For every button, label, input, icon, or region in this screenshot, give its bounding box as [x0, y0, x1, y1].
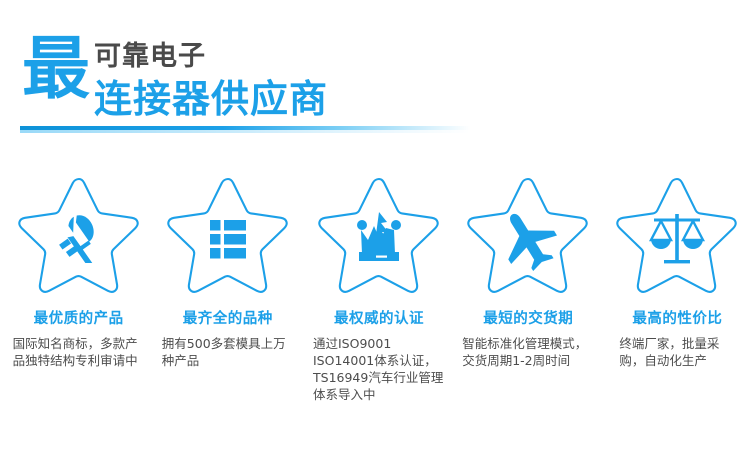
feature-item-quality: 最优质的产品 国际知名商标，多款产品独特结构专利审请中: [4, 172, 153, 403]
headline-title: 连接器供应商: [94, 78, 328, 120]
feature-description: 拥有500多套模具上万种产品: [160, 335, 296, 369]
feature-description: 终端厂家，批量采购，自动化生产: [617, 335, 737, 369]
crown-icon: [312, 172, 446, 298]
feature-item-variety: 最齐全的品种 拥有500多套模具上万种产品: [153, 172, 302, 403]
feature-title: 最高的性价比: [632, 310, 722, 328]
feature-item-certification: 最权威的认证 通过ISO9001 ISO14001体系认证，TS16949汽车行…: [304, 172, 453, 403]
satellite-dish-icon: [12, 172, 146, 298]
list-grid-icon: [161, 172, 295, 298]
feature-title: 最权威的认证: [334, 310, 424, 328]
feature-title: 最齐全的品种: [183, 310, 273, 328]
headline-block: 最 可靠电子 连接器供应商: [22, 34, 482, 124]
feature-description: 通过ISO9001 ISO14001体系认证，TS16949汽车行业管理体系导入…: [311, 335, 447, 403]
feature-title: 最优质的产品: [34, 310, 124, 328]
star-badge: [610, 172, 744, 298]
star-badge: [161, 172, 295, 298]
headline-divider-glow: [20, 130, 470, 133]
feature-title: 最短的交货期: [483, 310, 573, 328]
feature-description: 智能标准化管理模式，交货周期1-2周时间: [460, 335, 596, 369]
star-badge: [461, 172, 595, 298]
airplane-icon: [461, 172, 595, 298]
feature-item-value: 最高的性价比 终端厂家，批量采购，自动化生产: [603, 172, 752, 403]
feature-list: 最优质的产品 国际知名商标，多款产品独特结构专利审请中 最齐全的品种 拥有500…: [0, 172, 752, 403]
feature-description: 国际知名商标，多款产品独特结构专利审请中: [11, 335, 147, 369]
headline-subtitle: 可靠电子: [94, 42, 206, 72]
headline-big-character: 最: [22, 36, 89, 104]
star-badge: [312, 172, 446, 298]
star-badge: [12, 172, 146, 298]
feature-item-delivery: 最短的交货期 智能标准化管理模式，交货周期1-2周时间: [454, 172, 603, 403]
balance-scale-icon: [610, 172, 744, 298]
